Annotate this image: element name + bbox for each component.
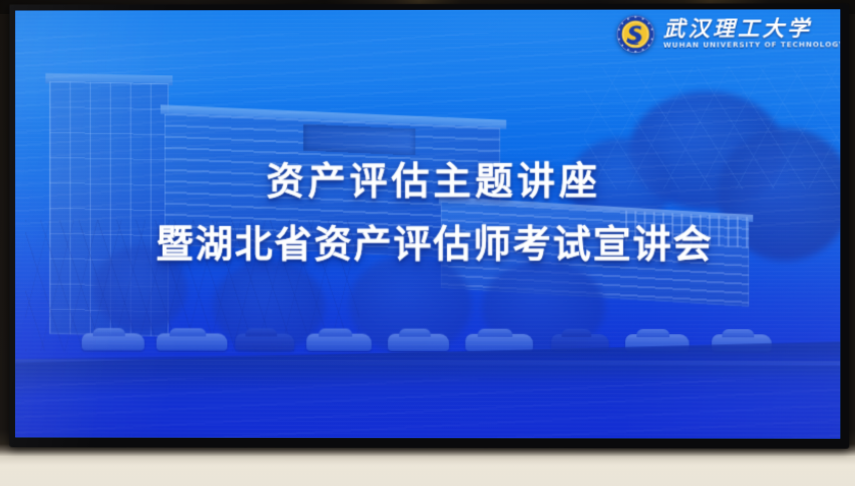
screen-content: 武汉理工大学 WUHAN UNIVERSITY OF TECHNOLOGY 资产…	[15, 9, 840, 438]
slide-headline: 资产评估主题讲座 暨湖北省资产评估师考试宣讲会	[15, 158, 840, 269]
display-screen: 武汉理工大学 WUHAN UNIVERSITY OF TECHNOLOGY 资产…	[15, 9, 840, 438]
university-brand-lockup: 武汉理工大学 WUHAN UNIVERSITY OF TECHNOLOGY	[616, 14, 840, 54]
university-name-block: 武汉理工大学 WUHAN UNIVERSITY OF TECHNOLOGY	[663, 17, 840, 50]
headline-line-2: 暨湖北省资产评估师考试宣讲会	[15, 222, 840, 269]
university-name-en: WUHAN UNIVERSITY OF TECHNOLOGY	[663, 41, 840, 51]
headline-line-1: 资产评估主题讲座	[15, 158, 840, 205]
led-display-panel: 武汉理工大学 WUHAN UNIVERSITY OF TECHNOLOGY 资产…	[9, 3, 849, 448]
university-name-cn: 武汉理工大学	[663, 17, 840, 40]
university-seal-icon	[616, 15, 655, 54]
